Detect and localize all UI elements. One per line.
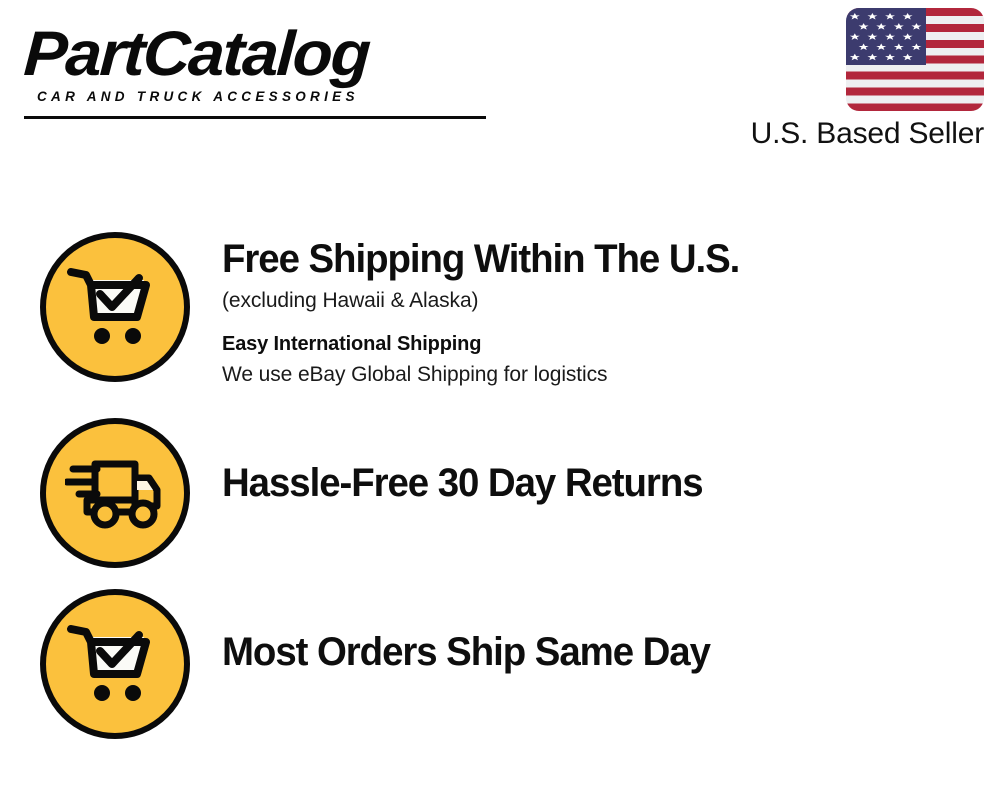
flag-stars	[846, 8, 926, 65]
brand-logo[interactable]: PartCatalog CAR AND TRUCK ACCESSORIES	[24, 22, 494, 104]
feature-secondary-subtitle: We use eBay Global Shipping for logistic…	[222, 360, 980, 389]
feature-title: Hassle-Free 30 Day Returns	[222, 460, 950, 506]
logo-wordmark: PartCatalog	[22, 22, 514, 86]
shopping-cart-check-icon	[40, 232, 190, 382]
us-based-seller-badge: U.S. Based Seller	[704, 8, 984, 151]
us-flag-icon	[846, 8, 984, 111]
feature-title: Free Shipping Within The U.S.	[222, 236, 950, 282]
us-based-seller-label: U.S. Based Seller	[704, 117, 984, 151]
logo-tagline: CAR AND TRUCK ACCESSORIES	[37, 89, 494, 104]
delivery-truck-glyph	[65, 456, 165, 530]
feature-text-block: Free Shipping Within The U.S. (excluding…	[190, 232, 980, 389]
page-header: PartCatalog CAR AND TRUCK ACCESSORIES	[0, 0, 1000, 175]
feature-title: Most Orders Ship Same Day	[222, 629, 950, 675]
feature-text-block: Most Orders Ship Same Day	[190, 589, 980, 675]
cart-check-glyph	[67, 623, 163, 705]
logo-underline-rule	[24, 116, 486, 119]
feature-text-block: Hassle-Free 30 Day Returns	[190, 418, 980, 506]
feature-item-returns: Hassle-Free 30 Day Returns	[40, 418, 980, 568]
feature-secondary-title: Easy International Shipping	[222, 330, 980, 358]
feature-subtitle: (excluding Hawaii & Alaska)	[222, 286, 980, 316]
feature-item-same-day-ship: Most Orders Ship Same Day	[40, 589, 980, 739]
cart-check-glyph	[67, 266, 163, 348]
shopping-cart-check-icon	[40, 589, 190, 739]
fast-delivery-truck-icon	[40, 418, 190, 568]
feature-item-free-shipping: Free Shipping Within The U.S. (excluding…	[40, 232, 980, 389]
